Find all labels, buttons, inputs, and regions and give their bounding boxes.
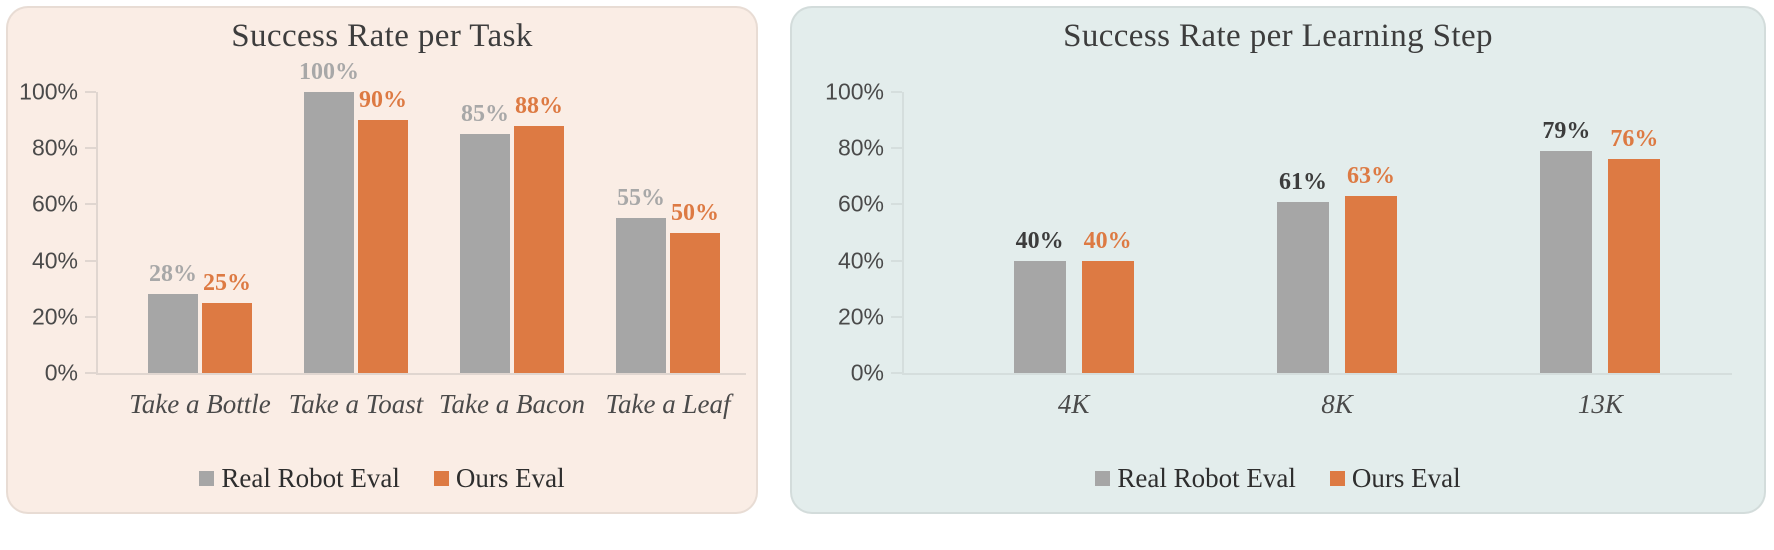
bar-value-label: 55% [617,185,665,212]
bar-value-label: 79% [1542,118,1590,145]
x-axis-baseline [902,373,1732,375]
y-axis-tick [891,147,902,149]
bar-value-label: 40% [1016,228,1064,255]
y-axis-tick [891,260,902,262]
legend-item-ours-eval: Ours Eval [1330,463,1461,494]
bar [148,294,198,373]
bar [304,92,354,373]
legend-item-real-robot-eval: Real Robot Eval [1095,463,1295,494]
x-axis-baseline [96,373,746,375]
legend-item-real-robot-eval: Real Robot Eval [199,463,399,494]
y-axis-tick-label: 40% [32,247,78,274]
bar-value-label: 40% [1084,228,1132,255]
chart-panel-success-rate-per-learning-step: Success Rate per Learning Step 0%20%40%6… [790,6,1766,514]
bar-value-label: 100% [299,59,359,86]
y-axis-tick-label: 0% [45,360,78,387]
bar [460,134,510,373]
y-axis-tick-label: 80% [838,135,884,162]
legend-label: Real Robot Eval [1117,463,1295,494]
bar-value-label: 85% [461,101,509,128]
legend-swatch-icon [434,471,449,486]
x-axis-category-label: Take a Bottle [129,389,271,420]
bar-value-label: 25% [203,270,251,297]
bar-value-label: 63% [1347,163,1395,190]
x-axis-category-label: 8K [1321,389,1353,420]
bar [1014,261,1066,373]
y-axis-tick [85,203,96,205]
bar-value-label: 61% [1279,169,1327,196]
bar [1082,261,1134,373]
plot-area: 0%20%40%60%80%100%Take a Bottle28%25%Tak… [96,92,746,373]
bar [1608,159,1660,373]
plot-area: 0%20%40%60%80%100%4K40%40%8K61%63%13K79%… [902,92,1732,373]
legend-swatch-icon [199,471,214,486]
legend-item-ours-eval: Ours Eval [434,463,565,494]
legend-swatch-icon [1095,471,1110,486]
bar [1277,202,1329,373]
y-axis-tick [891,316,902,318]
bar [616,218,666,373]
bar [202,303,252,373]
y-axis-tick [85,91,96,93]
chart-legend: Real Robot Eval Ours Eval [792,463,1764,494]
y-axis-tick [85,260,96,262]
chart-title: Success Rate per Learning Step [792,18,1764,55]
bar [358,120,408,373]
y-axis-tick-label: 100% [825,79,884,106]
figure-root: Success Rate per Task 0%20%40%60%80%100%… [0,0,1774,550]
y-axis-tick-label: 80% [32,135,78,162]
bar [1540,151,1592,373]
y-axis-tick [891,91,902,93]
x-axis-category-label: 4K [1058,389,1090,420]
chart-panel-success-rate-per-task: Success Rate per Task 0%20%40%60%80%100%… [6,6,758,514]
bar-value-label: 76% [1610,126,1658,153]
y-axis-tick [891,203,902,205]
y-axis-tick [85,147,96,149]
y-axis-tick-label: 40% [838,247,884,274]
x-axis-category-label: Take a Toast [289,389,424,420]
bar [514,126,564,373]
y-axis-tick-label: 0% [851,360,884,387]
chart-legend: Real Robot Eval Ours Eval [8,463,756,494]
chart-title: Success Rate per Task [8,18,756,55]
y-axis-tick-label: 60% [32,191,78,218]
x-axis-category-label: 13K [1578,389,1623,420]
bar-value-label: 28% [149,261,197,288]
legend-label: Real Robot Eval [221,463,399,494]
bar [670,233,720,374]
y-axis-tick [85,316,96,318]
legend-label: Ours Eval [456,463,565,494]
y-axis-tick [85,372,96,374]
bar-value-label: 88% [515,93,563,120]
y-axis-tick [891,372,902,374]
y-axis-tick-label: 20% [32,303,78,330]
y-axis-spine [96,92,98,373]
y-axis-tick-label: 100% [19,79,78,106]
bar-value-label: 50% [671,200,719,227]
y-axis-spine [902,92,904,373]
bar-value-label: 90% [359,87,407,114]
x-axis-category-label: Take a Bacon [439,389,585,420]
legend-swatch-icon [1330,471,1345,486]
legend-label: Ours Eval [1352,463,1461,494]
bar [1345,196,1397,373]
y-axis-tick-label: 20% [838,303,884,330]
x-axis-category-label: Take a Leaf [605,389,730,420]
y-axis-tick-label: 60% [838,191,884,218]
